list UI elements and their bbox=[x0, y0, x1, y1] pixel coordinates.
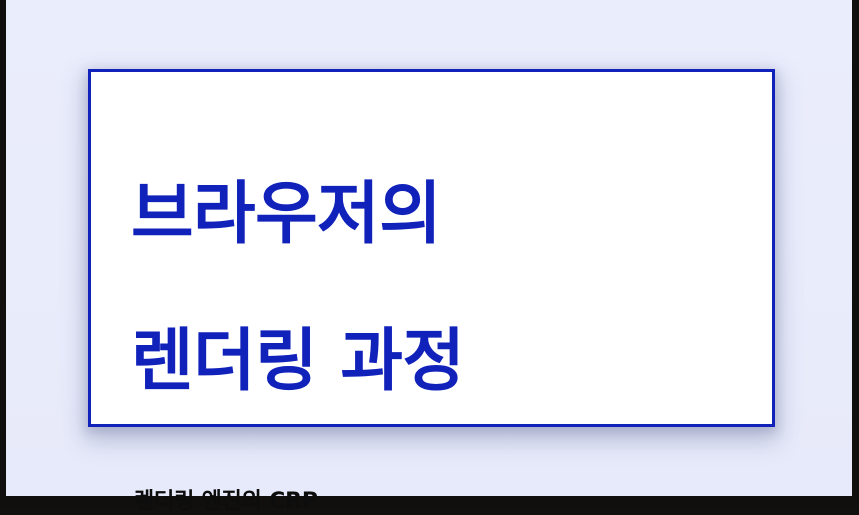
presentation-page: 브라우저의 렌더링 과정 렌더링 엔진의 CRP bbox=[0, 0, 859, 507]
slide-card[interactable]: 브라우저의 렌더링 과정 렌더링 엔진의 CRP bbox=[88, 69, 775, 427]
slide-title-line-1: 브라우저의 bbox=[131, 181, 732, 248]
slide-title: 브라우저의 렌더링 과정 bbox=[131, 114, 732, 463]
slide-title-line-2: 렌더링 과정 bbox=[131, 328, 732, 395]
slide-content: 브라우저의 렌더링 과정 렌더링 엔진의 CRP bbox=[91, 72, 772, 424]
slide-subtitle: 렌더링 엔진의 CRP bbox=[134, 489, 732, 515]
